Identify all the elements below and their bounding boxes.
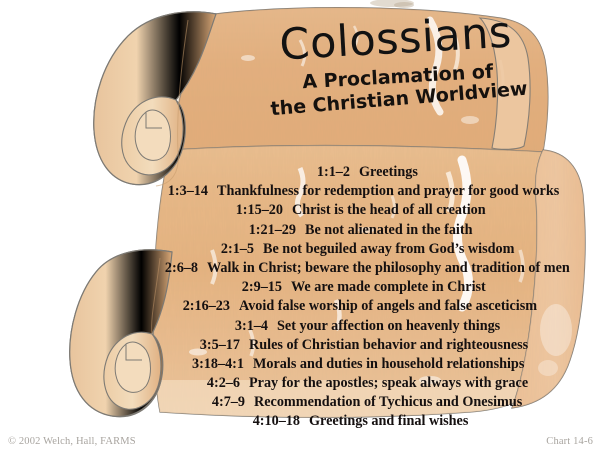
outline-row: 1:21–29Be not alienated in the faith	[0, 221, 602, 240]
outline-row: 3:18–4:1Morals and duties in household r…	[0, 355, 602, 374]
verse-reference: 1:15–20	[219, 201, 283, 220]
outline-row-content: 2:16–23Avoid false worship of angels and…	[166, 297, 537, 316]
outline-row-content: 4:10–18Greetings and final wishes	[236, 412, 468, 431]
outline-row-content: 4:7–9Recommendation of Tychicus and Ones…	[181, 393, 522, 412]
verse-description: Avoid false worship of angels and false …	[239, 297, 537, 316]
verse-description: Set your affection on heavenly things	[277, 317, 500, 336]
outline-row-content: 2:1–5Be not beguiled away from God’s wis…	[190, 240, 514, 259]
outline-row: 3:1–4Set your affection on heavenly thin…	[0, 317, 602, 336]
verse-reference: 4:2–6	[176, 374, 240, 393]
verse-reference: 1:1–2	[286, 163, 350, 182]
verse-reference: 3:18–4:1	[180, 355, 244, 374]
verse-description: Be not beguiled away from God’s wisdom	[263, 240, 514, 259]
verse-description: Greetings and final wishes	[309, 412, 468, 431]
verse-description: Greetings	[359, 163, 418, 182]
verse-reference: 4:10–18	[236, 412, 300, 431]
verse-description: Thankfulness for redemption and prayer f…	[217, 182, 559, 201]
verse-reference: 2:6–8	[134, 259, 198, 278]
verse-description: Recommendation of Tychicus and Onesimus	[254, 393, 522, 412]
outline-row-content: 1:3–14Thankfulness for redemption and pr…	[144, 182, 559, 201]
outline-row: 1:3–14Thankfulness for redemption and pr…	[0, 182, 602, 201]
verse-description: Rules of Christian behavior and righteou…	[249, 336, 528, 355]
outline-row-content: 1:21–29Be not alienated in the faith	[232, 221, 473, 240]
outline-row: 2:6–8Walk in Christ; beware the philosop…	[0, 259, 602, 278]
verse-reference: 4:7–9	[181, 393, 245, 412]
verse-description: Pray for the apostles; speak always with…	[249, 374, 528, 393]
verse-description: Walk in Christ; beware the philosophy an…	[207, 259, 570, 278]
verse-description: We are made complete in Christ	[291, 278, 486, 297]
chart-number: Chart 14-6	[546, 436, 593, 447]
outline-row: 1:1–2Greetings	[0, 163, 602, 182]
outline-row: 2:9–15We are made complete in Christ	[0, 278, 602, 297]
verse-reference: 2:16–23	[166, 297, 230, 316]
outline-row-content: 3:18–4:1Morals and duties in household r…	[180, 355, 524, 374]
scripture-outline-list: 1:1–2Greetings1:3–14Thankfulness for red…	[0, 163, 602, 432]
outline-row: 4:10–18Greetings and final wishes	[0, 412, 602, 431]
outline-row: 3:5–17Rules of Christian behavior and ri…	[0, 336, 602, 355]
verse-reference: 1:3–14	[144, 182, 208, 201]
verse-reference: 3:1–4	[204, 317, 268, 336]
outline-row: 2:1–5Be not beguiled away from God’s wis…	[0, 240, 602, 259]
outline-row: 1:15–20Christ is the head of all creatio…	[0, 201, 602, 220]
verse-description: Christ is the head of all creation	[292, 201, 486, 220]
outline-row-content: 2:9–15We are made complete in Christ	[218, 278, 486, 297]
outline-row-content: 1:15–20Christ is the head of all creatio…	[219, 201, 486, 220]
outline-row: 4:7–9Recommendation of Tychicus and Ones…	[0, 393, 602, 412]
verse-reference: 2:1–5	[190, 240, 254, 259]
verse-reference: 3:5–17	[176, 336, 240, 355]
outline-row-content: 4:2–6Pray for the apostles; speak always…	[176, 374, 528, 393]
verse-reference: 1:21–29	[232, 221, 296, 240]
outline-row: 4:2–6Pray for the apostles; speak always…	[0, 374, 602, 393]
outline-row-content: 2:6–8Walk in Christ; beware the philosop…	[134, 259, 570, 278]
verse-description: Morals and duties in household relations…	[253, 355, 524, 374]
verse-description: Be not alienated in the faith	[305, 221, 473, 240]
verse-reference: 2:9–15	[218, 278, 282, 297]
slide-canvas: Colossians A Proclamation of the Christi…	[0, 0, 602, 453]
outline-row-content: 3:5–17Rules of Christian behavior and ri…	[176, 336, 528, 355]
outline-row: 2:16–23Avoid false worship of angels and…	[0, 297, 602, 316]
outline-row-content: 3:1–4Set your affection on heavenly thin…	[204, 317, 500, 336]
outline-row-content: 1:1–2Greetings	[286, 163, 418, 182]
copyright-notice: © 2002 Welch, Hall, FARMS	[8, 436, 136, 447]
